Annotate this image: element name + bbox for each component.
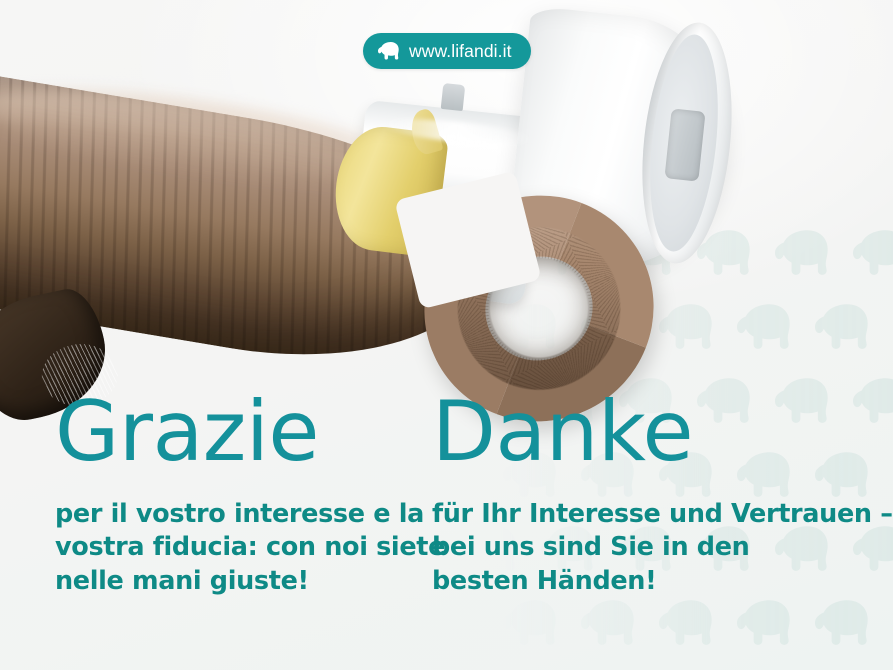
german-body-line: bei uns sind Sie in den bbox=[432, 531, 852, 565]
german-headline: Danke bbox=[432, 392, 852, 472]
poster-canvas: www.lifandi.it Grazie per il vostro inte… bbox=[0, 0, 893, 670]
german-column: Danke für Ihr Interesse und Vertrauen – … bbox=[432, 392, 852, 599]
german-body-line: besten Händen! bbox=[432, 565, 852, 599]
german-body: für Ihr Interesse und Vertrauen – bei un… bbox=[432, 498, 852, 599]
italian-body-line: vostra fiducia: con noi siete bbox=[55, 531, 425, 565]
website-badge[interactable]: www.lifandi.it bbox=[363, 33, 531, 69]
elephant-icon bbox=[378, 42, 400, 60]
italian-headline: Grazie bbox=[55, 392, 425, 472]
italian-body-line: nelle mani giuste! bbox=[55, 565, 425, 599]
italian-column: Grazie per il vostro interesse e la vost… bbox=[55, 392, 425, 599]
megaphone-top-knob bbox=[441, 83, 466, 111]
german-body-line: für Ihr Interesse und Vertrauen – bbox=[432, 498, 852, 532]
italian-body: per il vostro interesse e la vostra fidu… bbox=[55, 498, 425, 599]
website-url-text: www.lifandi.it bbox=[409, 41, 512, 62]
megaphone-side-button bbox=[664, 108, 705, 181]
italian-body-line: per il vostro interesse e la bbox=[55, 498, 425, 532]
